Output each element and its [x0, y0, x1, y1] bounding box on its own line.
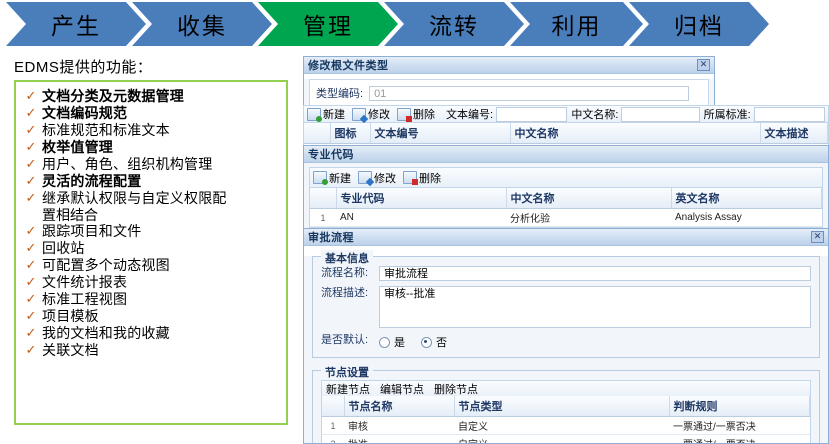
check-icon: ✓ — [20, 325, 42, 341]
col-judge-rule: 判断规则 — [669, 396, 810, 417]
dialog-title: 审批流程 — [308, 229, 354, 245]
col-cn-name: 中文名称 — [506, 188, 671, 209]
list-item: ✓ 文档编码规范 — [20, 105, 282, 121]
check-icon: ✓ — [20, 122, 42, 138]
dialog-title: 专业代码 — [308, 146, 354, 162]
check-icon: ✓ — [20, 190, 42, 206]
edit-button-label: 修改 — [368, 106, 390, 122]
col-node-type: 节点类型 — [454, 396, 669, 417]
list-item: ✓ 用户、角色、组织机构管理 — [20, 156, 282, 172]
dialog-body: 基本信息 流程名称: 审批流程 流程描述: 审核--批准 是否默认: 是 否 — [304, 256, 828, 444]
process-step-6-label: 归档 — [674, 7, 724, 41]
process-step-1-label: 产生 — [51, 7, 101, 41]
process-step-1[interactable]: 产生 — [6, 2, 146, 46]
list-item: ✓ 可配置多个动态视图 — [20, 257, 282, 273]
list-item: ✓ 标准规范和标准文本 — [20, 122, 282, 138]
list-item-label: 我的文档和我的收藏 — [42, 325, 170, 341]
flow-desc-label: 流程描述: — [321, 286, 379, 301]
major-code-toolbar: 新建 修改 删除 — [310, 168, 822, 188]
col-en-name: 英文名称 — [671, 188, 822, 209]
list-item-label: 继承默认权限与自定义权限配 — [42, 190, 227, 206]
dialog-approval-flow: 审批流程 ✕ 基本信息 流程名称: 审批流程 流程描述: 审核--批准 是否默认… — [303, 228, 829, 444]
check-icon: ✓ — [20, 308, 42, 324]
edit-button[interactable]: 修改 — [352, 106, 390, 122]
basic-info-legend: 基本信息 — [321, 250, 373, 266]
check-icon: ✓ — [20, 274, 42, 290]
flow-name-input[interactable]: 审批流程 — [379, 266, 811, 281]
node-settings-group: 节点设置 新建节点 编辑节点 删除节点 节点名称 节点类型 判断规则 1 — [312, 370, 820, 444]
col-text-code: 文本编号 — [370, 123, 510, 144]
list-item-label: 标准工程视图 — [42, 291, 127, 307]
flow-name-label: 流程名称: — [321, 266, 379, 281]
new-button[interactable]: 新建 — [313, 170, 351, 186]
process-step-4[interactable]: 流转 — [384, 2, 524, 46]
table-row[interactable]: 2 批准 自定义 一票通过/一票否决 — [322, 435, 810, 444]
list-item: ✓ 回收站 — [20, 240, 282, 256]
new-button-label: 新建 — [323, 106, 345, 122]
major-code-grid: 专业代码 中文名称 英文名称 1 AN 分析化验 Analysis Assay — [310, 188, 822, 227]
radio-no-label: 否 — [436, 334, 447, 350]
check-icon: ✓ — [20, 223, 42, 239]
process-step-3-label: 管理 — [303, 7, 353, 41]
row-judge-rule: 一票通过/一票否决 — [669, 417, 810, 435]
row-node-type: 自定义 — [454, 435, 669, 444]
node-grid: 节点名称 节点类型 判断规则 1 审核 自定义 一票通过/一票否决 2 批准 自… — [321, 396, 811, 444]
delete-button[interactable]: 删除 — [403, 170, 441, 186]
list-item: ✓ 文档分类及元数据管理 — [20, 88, 282, 104]
delete-button-label: 删除 — [413, 106, 435, 122]
process-step-3[interactable]: 管理 — [258, 2, 398, 46]
new-button[interactable]: 新建 — [307, 106, 345, 122]
standard-filter-label: 所属标准: — [704, 106, 751, 122]
type-code-row: 类型编码: 01 — [309, 79, 709, 107]
table-header-row: 图标 文本编号 中文名称 文本描述 — [304, 123, 828, 144]
list-item-label: 跟踪项目和文件 — [42, 223, 141, 239]
list-item-label: 关联文档 — [42, 342, 99, 358]
process-step-5[interactable]: 利用 — [510, 2, 643, 46]
process-step-2[interactable]: 收集 — [132, 2, 272, 46]
process-step-2-label: 收集 — [177, 7, 227, 41]
list-item-label: 文件统计报表 — [42, 274, 127, 290]
list-item-label: 项目模板 — [42, 308, 99, 324]
node-toolbar: 新建节点 编辑节点 删除节点 — [321, 380, 811, 396]
cn-name-filter-label: 中文名称: — [571, 106, 618, 122]
list-item: ✓ 文件统计报表 — [20, 274, 282, 290]
type-code-label: 类型编码: — [316, 85, 363, 101]
list-item: ✓ 项目模板 — [20, 308, 282, 324]
list-item-label-continuation: 置相结合 — [42, 207, 282, 223]
list-item-label: 用户、角色、组织机构管理 — [42, 156, 212, 172]
flow-name-row: 流程名称: 审批流程 — [321, 266, 811, 281]
list-item-label: 灵活的流程配置 — [42, 173, 141, 189]
list-item-label: 回收站 — [42, 240, 85, 256]
flow-desc-textarea[interactable]: 审核--批准 — [379, 286, 811, 328]
default-flag-row: 是否默认: 是 否 — [321, 333, 811, 350]
list-item: ✓ 我的文档和我的收藏 — [20, 325, 282, 341]
table-header-row: 节点名称 节点类型 判断规则 — [322, 396, 810, 417]
col-rownum — [310, 188, 336, 209]
radio-yes[interactable] — [379, 337, 390, 348]
feature-list-box: ✓ 文档分类及元数据管理 ✓ 文档编码规范 ✓ 标准规范和标准文本 ✓ 枚举值管… — [14, 80, 288, 425]
default-flag-radio-group: 是 否 — [379, 333, 459, 350]
flow-desc-row: 流程描述: 审核--批准 — [321, 286, 811, 328]
col-icon: 图标 — [330, 123, 370, 144]
list-item: ✓ 跟踪项目和文件 — [20, 223, 282, 239]
add-icon — [313, 171, 327, 184]
default-flag-label: 是否默认: — [321, 333, 379, 348]
check-icon: ✓ — [20, 139, 42, 155]
col-rownum — [322, 396, 344, 417]
col-cn-name: 中文名称 — [510, 123, 760, 144]
row-en-name: Analysis Assay — [671, 209, 822, 227]
new-button-label: 新建 — [329, 170, 351, 186]
check-icon: ✓ — [20, 240, 42, 256]
edit-icon — [358, 171, 372, 184]
row-cn-name: 分析化验 — [506, 209, 671, 227]
list-item: ✓ 继承默认权限与自定义权限配 — [20, 190, 282, 206]
standard-filter-input[interactable] — [754, 107, 825, 122]
row-major-code: AN — [336, 209, 506, 227]
process-step-5-label: 利用 — [552, 7, 602, 41]
check-icon: ✓ — [20, 342, 42, 358]
col-text-desc: 文本描述 — [760, 123, 828, 144]
edms-caption: EDMS提供的功能： — [14, 56, 300, 77]
edit-button-label: 修改 — [374, 170, 396, 186]
dialog-body: 新建 修改 删除 专业代码 中文名称 英文名称 — [304, 163, 828, 235]
close-icon[interactable]: ✕ — [697, 59, 710, 71]
check-icon: ✓ — [20, 291, 42, 307]
check-icon: ✓ — [20, 257, 42, 273]
features-panel: EDMS提供的功能： ✓ 文档分类及元数据管理 ✓ 文档编码规范 ✓ 标准规范和… — [0, 52, 300, 442]
edit-button[interactable]: 修改 — [358, 170, 396, 186]
list-item-label: 标准规范和标准文本 — [42, 122, 170, 138]
radio-yes-label: 是 — [394, 334, 405, 350]
table-row[interactable]: 1 审核 自定义 一票通过/一票否决 — [322, 417, 810, 435]
delete-icon — [403, 171, 417, 184]
table-header-row: 专业代码 中文名称 英文名称 — [310, 188, 822, 209]
radio-no[interactable] — [421, 337, 432, 348]
col-major-code: 专业代码 — [336, 188, 506, 209]
delete-button[interactable]: 删除 — [397, 106, 435, 122]
add-icon — [307, 108, 321, 121]
row-num: 2 — [322, 435, 344, 444]
edit-node-button[interactable]: 编辑节点 — [380, 381, 424, 397]
row-num: 1 — [310, 209, 336, 227]
dialog-title: 修改根文件类型 — [308, 57, 389, 73]
process-step-6[interactable]: 归档 — [629, 2, 769, 46]
basic-info-group: 基本信息 流程名称: 审批流程 流程描述: 审核--批准 是否默认: 是 否 — [312, 256, 820, 358]
row-num: 1 — [322, 417, 344, 435]
check-icon: ✓ — [20, 173, 42, 189]
delete-icon — [397, 108, 411, 121]
dialog-title-bar[interactable]: 审批流程 ✕ — [304, 229, 828, 246]
list-item: ✓ 灵活的流程配置 — [20, 173, 282, 189]
node-settings-legend: 节点设置 — [321, 364, 373, 380]
list-item: ✓ 标准工程视图 — [20, 291, 282, 307]
list-item-label: 可配置多个动态视图 — [42, 257, 170, 273]
dialog-major-code: 专业代码 新建 修改 删除 — [303, 145, 829, 235]
check-icon: ✓ — [20, 105, 42, 121]
process-flow-bar: 产生 收集 管理 流转 利用 归档 — [0, 0, 829, 48]
text-code-filter-label: 文本编号: — [446, 106, 493, 122]
row-node-name: 批准 — [344, 435, 454, 444]
col-node-name: 节点名称 — [344, 396, 454, 417]
list-item: ✓ 枚举值管理 — [20, 139, 282, 155]
check-icon: ✓ — [20, 88, 42, 104]
check-icon: ✓ — [20, 156, 42, 172]
list-item-label: 枚举值管理 — [42, 139, 113, 155]
table-row[interactable]: 1 AN 分析化验 Analysis Assay — [310, 209, 822, 227]
new-node-button[interactable]: 新建节点 — [326, 381, 370, 397]
col-rownum — [304, 123, 330, 144]
text-code-filter-input[interactable] — [496, 107, 567, 122]
type-code-input[interactable]: 01 — [369, 86, 689, 101]
dialog-title-bar[interactable]: 修改根文件类型 ✕ — [304, 57, 714, 74]
file-type-toolbar: 新建 修改 删除 文本编号: 中文名称: 所属标准: — [303, 105, 829, 123]
row-node-name: 审核 — [344, 417, 454, 435]
delete-button-label: 删除 — [419, 170, 441, 186]
edit-icon — [352, 108, 366, 121]
delete-node-button[interactable]: 删除节点 — [434, 381, 478, 397]
process-step-4-label: 流转 — [429, 7, 479, 41]
dialog-title-bar[interactable]: 专业代码 — [304, 146, 828, 163]
row-node-type: 自定义 — [454, 417, 669, 435]
list-item-label: 文档编码规范 — [42, 105, 127, 121]
close-icon[interactable]: ✕ — [811, 231, 824, 243]
row-judge-rule: 一票通过/一票否决 — [669, 435, 810, 444]
cn-name-filter-input[interactable] — [621, 107, 699, 122]
list-item-label: 文档分类及元数据管理 — [42, 88, 184, 104]
list-item: ✓ 关联文档 — [20, 342, 282, 358]
